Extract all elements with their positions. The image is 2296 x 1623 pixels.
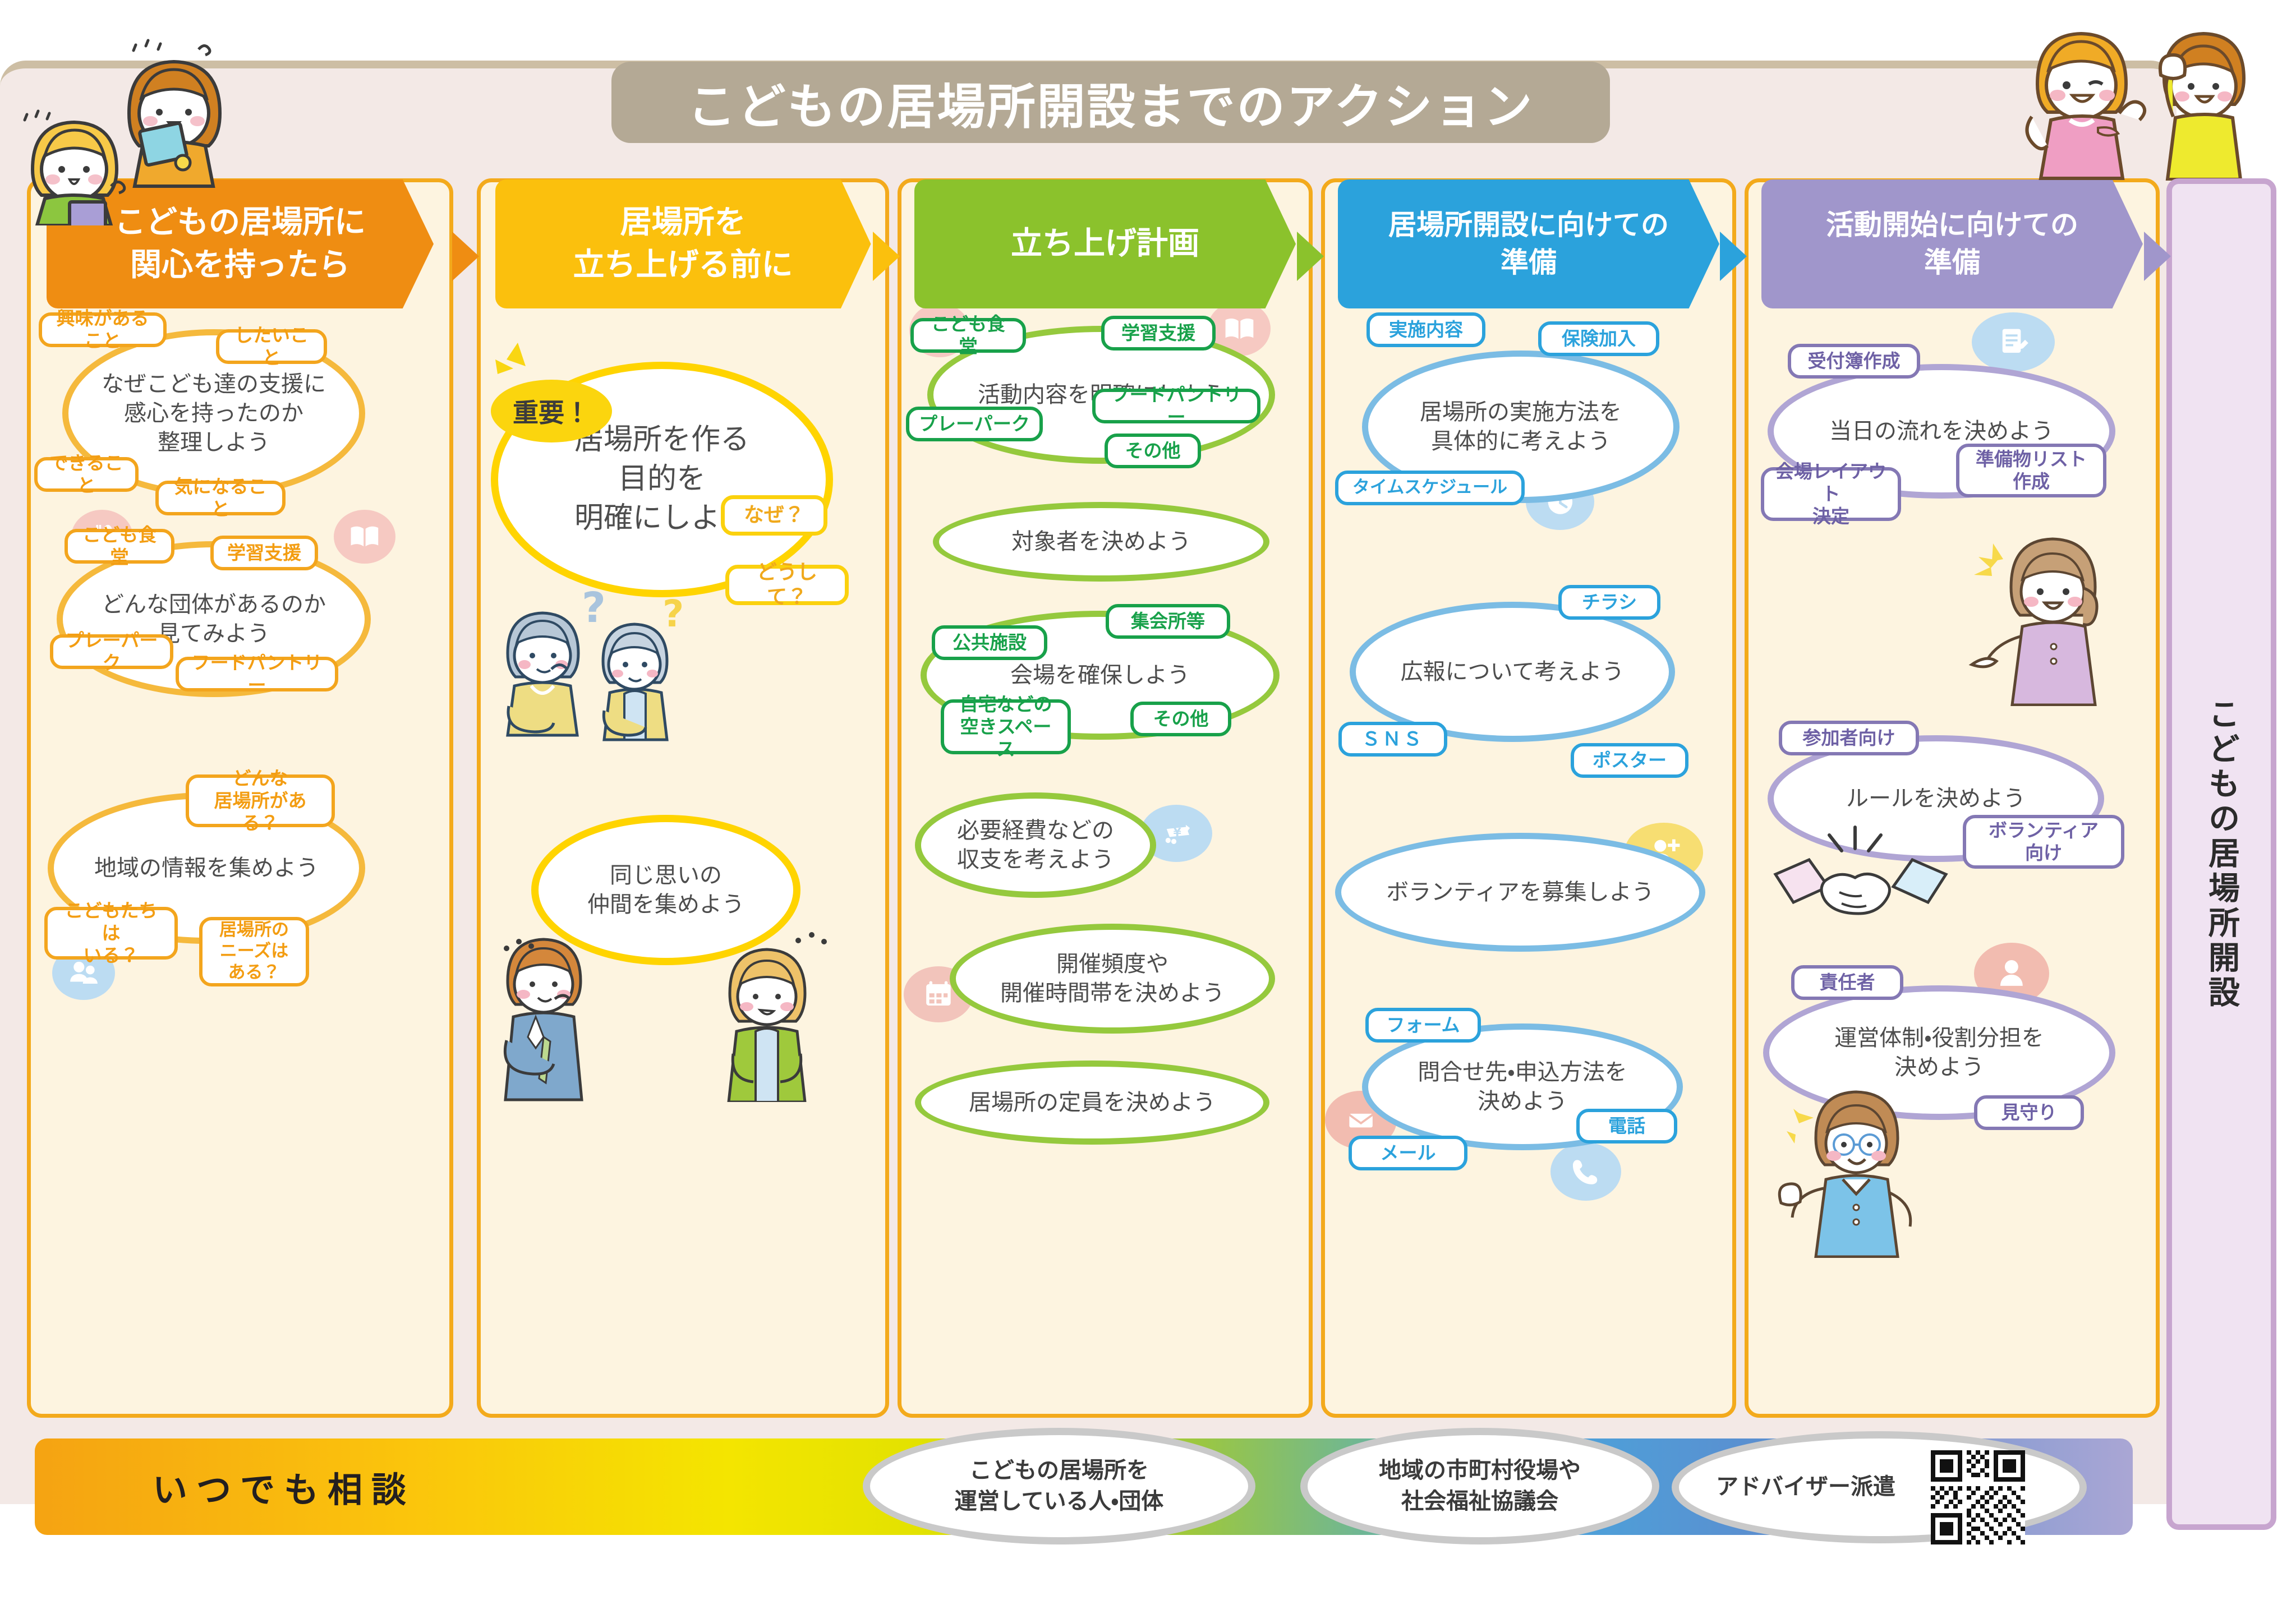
open-book-icon [334,510,395,564]
tag-interest-2[interactable]: したいこと [216,329,327,364]
tag-day-1[interactable]: 受付簿作成 [1788,344,1920,379]
tag-groups-1[interactable]: こども食堂 [65,529,174,564]
tag-activity-4[interactable]: フードパントリー [1092,389,1260,423]
tag-roles-2[interactable]: 見守り [1974,1095,2084,1130]
tag-activity-2[interactable]: 学習支援 [1101,316,1216,351]
consult-chip-operators[interactable]: こどもの居場所を 運営している人・団体 [863,1428,1255,1544]
tag-day-2[interactable]: 会場レイアウト 決定 [1761,467,1901,521]
column-activity-prep-header: 活動開始に向けての 準備 [1761,179,2143,308]
consultation-label: いつでも相談 [153,1461,415,1512]
tag-venue-1[interactable]: 公共施設 [932,625,1047,660]
tag-interest-4[interactable]: 気になること [155,481,286,515]
tag-naze[interactable]: なぜ？ [721,495,827,536]
tag-rules-1[interactable]: 参加者向け [1779,721,1919,755]
bubble-frequency: 開催頻度や 開催時間帯を決めよう [950,924,1275,1034]
tag-contact-2[interactable]: メール [1349,1136,1467,1170]
tag-interest-1[interactable]: 興味があること [39,312,167,347]
tag-impl-3[interactable]: タイムスケジュール [1335,471,1525,505]
column-launch-plan-header: 立ち上げ計画 [914,179,1296,308]
tag-pub-3[interactable]: ポスター [1571,743,1688,778]
illustration-two-adults [484,917,877,1102]
tag-groups-4[interactable]: フードパントリー [176,657,338,691]
column-launch-plan: 立ち上げ計画 活動内容を明確にしよう こども食堂 学習支援 プレーパーク フード… [898,178,1313,1418]
column-activity-prep: 活動開始に向けての 準備 当日の流れを決めよう 受付簿作成 会場レイアウト 決定… [1745,178,2160,1418]
svg-text:?: ? [582,586,606,632]
tag-localinfo-3[interactable]: 居場所の ニーズは ある？ [199,917,309,986]
illustration-confident-man [1762,1073,1930,1258]
tag-contact-1[interactable]: フォーム [1365,1008,1481,1043]
tag-venue-2[interactable]: 集会所等 [1106,604,1230,639]
tag-impl-2[interactable]: 保険加入 [1538,321,1659,356]
tag-groups-3[interactable]: プレーパーク [50,634,173,669]
column-interest: こどもの居場所に 関心を持ったら なぜこども達の支援に 感心を持ったのか 整理し… [27,178,453,1418]
illustration-cheering-adults [1997,1,2266,181]
vertical-result-tab: こどもの居場所開設 [2166,178,2276,1530]
consult-chip-municipality[interactable]: 地域の市町村役場や 社会福祉協議会 [1300,1428,1659,1544]
phone-icon [1550,1142,1621,1201]
tag-interest-3[interactable]: できること [34,457,139,492]
tag-roles-1[interactable]: 責任者 [1791,965,1903,1000]
important-badge-text: 重要！ [513,393,590,430]
page-title-text: こどもの居場所開設までのアクション [688,67,1534,137]
tag-activity-3[interactable]: プレーパーク [906,407,1043,441]
illustration-thinking-seniors: ? ? [498,586,711,777]
tag-groups-2[interactable]: 学習支援 [210,536,318,570]
qr-code-icon[interactable] [1931,1450,2025,1544]
tag-venue-4[interactable]: その他 [1130,702,1231,736]
bubble-budget: 必要経費などの 収支を考えよう [915,792,1156,898]
svg-text:?: ? [662,592,684,635]
tag-activity-1[interactable]: こども食堂 [910,318,1026,353]
illustration-handshake [1771,822,1950,928]
svg-text:¥: ¥ [1173,826,1181,840]
tag-day-3[interactable]: 準備物リスト 作成 [1956,444,2106,497]
tag-pub-1[interactable]: チラシ [1558,585,1660,620]
tag-rules-2[interactable]: ボランティア 向け [1963,815,2124,869]
tag-contact-3[interactable]: 電話 [1576,1109,1677,1144]
tag-venue-3[interactable]: 自宅などの 空きスペース [941,699,1071,754]
column-before-launch-header: 居場所を 立ち上げる前に [495,179,871,308]
column-before-launch: 居場所を 立ち上げる前に 居場所を作る 目的を 明確にしよう 重要！ なぜ？ ど… [477,178,889,1418]
tag-pub-2[interactable]: ＳＮＳ [1338,722,1447,757]
vertical-result-text: こどもの居場所開設 [2199,698,2244,1011]
bubble-recruit-volunteers: ボランティアを募集しよう [1335,833,1705,952]
illustration-two-children [1,1,237,225]
tag-activity-5[interactable]: その他 [1105,434,1201,468]
page-title: こどもの居場所開設までのアクション [611,62,1610,143]
important-badge: 重要！ [491,380,612,442]
tag-localinfo-1[interactable]: どんな 居場所がある？ [186,774,335,827]
bubble-publicity: 広報について考えよう [1350,602,1675,742]
bubble-capacity: 居場所の定員を決めよう [915,1061,1269,1145]
tag-doushite[interactable]: どうして？ [725,565,849,605]
tag-impl-1[interactable]: 実施内容 [1366,312,1485,347]
bubble-decide-target: 対象者を決めよう [933,502,1269,582]
document-edit-icon [1972,312,2055,372]
column-opening-prep: 居場所開設に向けての 準備 居場所の実施方法を 具体的に考えよう 実施内容 保険… [1321,178,1736,1418]
column-opening-prep-header: 居場所開設に向けての 準備 [1338,179,1719,308]
tag-localinfo-2[interactable]: こどもたちは いる？ [44,907,178,960]
illustration-presenting-woman [1959,521,2128,706]
